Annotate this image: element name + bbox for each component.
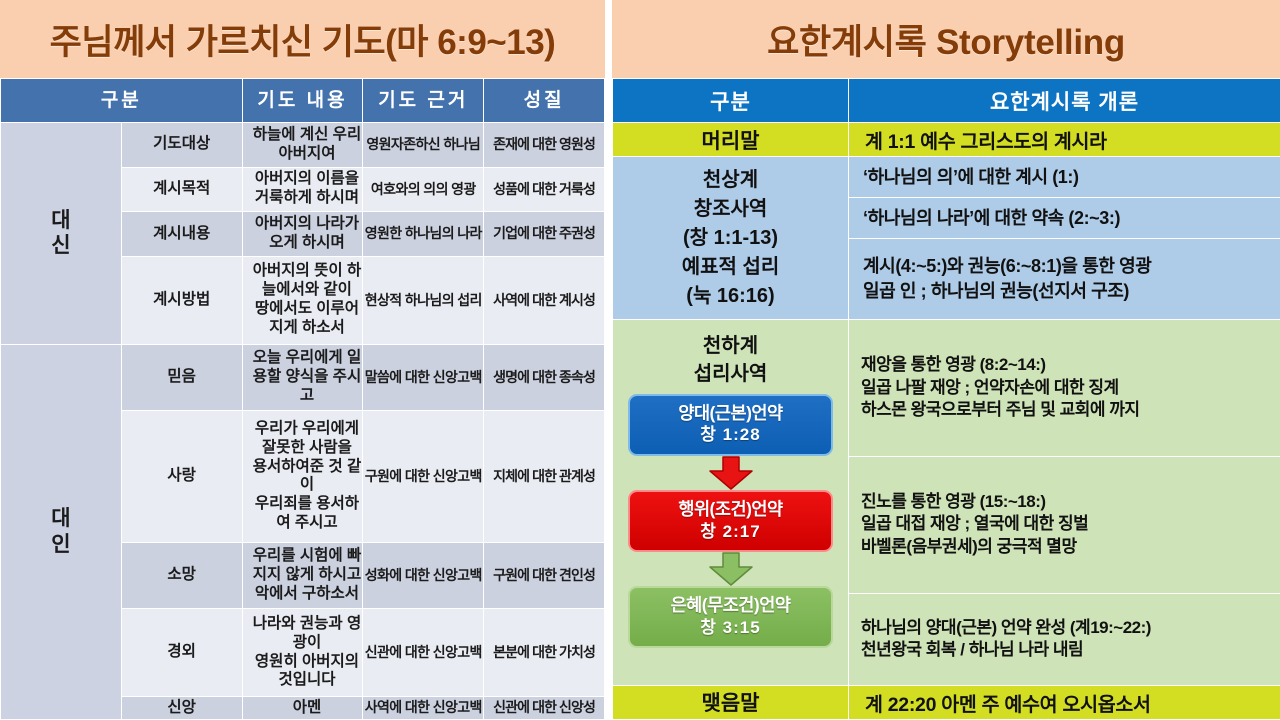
row-key: 기도대상 — [121, 123, 242, 168]
covenant-verse: 창 2:17 — [630, 521, 831, 542]
covenant-box-foundational[interactable]: 양대(근본)언약 창 1:28 — [628, 394, 833, 456]
row-nature: 기업에 대한 주권성 — [484, 212, 605, 257]
header-prayer-content: 기도 내용 — [242, 79, 363, 123]
row-key: 경외 — [121, 609, 242, 697]
row-content: 아멘 — [242, 697, 363, 720]
row-content: 나라와 권능과 영광이 영원히 아버지의 것입니다 — [242, 609, 363, 697]
header-division: 구분 — [613, 79, 849, 123]
row-nature: 생명에 대한 종속성 — [484, 344, 605, 410]
covenant-box-works[interactable]: 행위(조건)언약 창 2:17 — [628, 490, 833, 552]
left-panel-title: 주님께서 가르치신 기도(마 6:9~13) — [50, 14, 556, 65]
revelation-table: 구분 요한계시록 개론 머리말 계 1:1 예수 그리스도의 계시라 천상계 창… — [612, 78, 1280, 720]
row-basis: 구원에 대한 신앙고백 — [363, 411, 484, 543]
earth-item: 하나님의 양대(근본) 언약 완성 (계19:~22:) 천년왕국 회복 / 하… — [849, 593, 1280, 685]
earth-row-1: 천하계 섭리사역 양대(근본)언약 창 1:28 행위(조건)언약 — [613, 319, 1280, 456]
right-title-band: 요한계시록 Storytelling — [612, 0, 1280, 78]
lords-prayer-table: 구분 기도 내용 기도 근거 성질 대신 기도대상 하늘에 계신 우리 아버지여… — [0, 78, 605, 720]
row-content: 아버지의 나라가 오게 하시며 — [242, 212, 363, 257]
closing-body: 계 22:20 아멘 주 예수여 오시옵소서 — [849, 685, 1280, 719]
preface-label: 머리말 — [613, 123, 849, 157]
preface-row: 머리말 계 1:1 예수 그리스도의 계시라 — [613, 123, 1280, 157]
row-key: 계시목적 — [121, 167, 242, 212]
earth-item: 진노를 통한 영광 (15:~18:) 일곱 대접 재앙 ; 열국에 대한 징벌… — [849, 456, 1280, 593]
row-basis: 성화에 대한 신앙고백 — [363, 542, 484, 608]
group-label-daein: 대인 — [1, 344, 122, 719]
left-panel: 구분 기도 내용 기도 근거 성질 대신 기도대상 하늘에 계신 우리 아버지여… — [0, 78, 605, 720]
arrow-down-red-icon — [708, 456, 754, 490]
header-nature: 성질 — [484, 79, 605, 123]
covenant-name: 은혜(무조건)언약 — [630, 595, 831, 617]
row-nature: 성품에 대한 거룩성 — [484, 167, 605, 212]
row-content: 우리가 우리에게 잘못한 사람을 용서하여준 것 같이 우리죄를 용서하여 주시… — [242, 411, 363, 543]
row-basis: 영원자존하신 하나님 — [363, 123, 484, 168]
covenant-verse: 창 1:28 — [630, 424, 831, 445]
earth-label: 천하계 섭리사역 — [613, 332, 848, 388]
header-revelation-outline: 요한계시록 개론 — [849, 79, 1280, 123]
table-header-row: 구분 요한계시록 개론 — [613, 79, 1280, 123]
row-content: 아버지의 뜻이 하늘에서와 같이 땅에서도 이루어지게 하소서 — [242, 256, 363, 344]
row-content: 오늘 우리에게 일용할 양식을 주시고 — [242, 344, 363, 410]
table-row: 대인 믿음 오늘 우리에게 일용할 양식을 주시고 말씀에 대한 신앙고백 생명… — [1, 344, 605, 410]
heaven-item: ‘하나님의 나라’에 대한 약속 (2:~3:) — [849, 198, 1280, 239]
closing-row: 맺음말 계 22:20 아멘 주 예수여 오시옵소서 — [613, 685, 1280, 719]
row-basis: 신관에 대한 신앙고백 — [363, 609, 484, 697]
heaven-item: 계시(4:~5:)와 권능(6:~8:1)을 통한 영광 일곱 인 ; 하나님의… — [849, 239, 1280, 319]
covenant-flowchart: 양대(근본)언약 창 1:28 행위(조건)언약 창 2:17 — [613, 394, 848, 648]
covenant-name: 행위(조건)언약 — [630, 499, 831, 521]
earth-item: 재앙을 통한 영광 (8:2~14:) 일곱 나팔 재앙 ; 언약자손에 대한 … — [849, 319, 1280, 456]
row-nature: 사역에 대한 계시성 — [484, 256, 605, 344]
slide-root: 주님께서 가르치신 기도(마 6:9~13) 요한계시록 Storytellin… — [0, 0, 1280, 720]
group-char-2: 인 — [1, 532, 121, 558]
left-title-band: 주님께서 가르치신 기도(마 6:9~13) — [0, 0, 605, 78]
row-key: 소망 — [121, 542, 242, 608]
table-header-row: 구분 기도 내용 기도 근거 성질 — [1, 79, 605, 123]
closing-label: 맺음말 — [613, 685, 849, 719]
row-key: 신앙 — [121, 697, 242, 720]
right-panel-title: 요한계시록 Storytelling — [767, 14, 1125, 65]
row-nature: 존재에 대한 영원성 — [484, 123, 605, 168]
table-row: 대신 기도대상 하늘에 계신 우리 아버지여 영원자존하신 하나님 존재에 대한… — [1, 123, 605, 168]
row-content: 아버지의 이름을 거룩하게 하시며 — [242, 167, 363, 212]
row-basis: 사역에 대한 신앙고백 — [363, 697, 484, 720]
right-panel: 구분 요한계시록 개론 머리말 계 1:1 예수 그리스도의 계시라 천상계 창… — [612, 78, 1280, 720]
preface-body: 계 1:1 예수 그리스도의 계시라 — [849, 123, 1280, 157]
row-nature: 지체에 대한 관계성 — [484, 411, 605, 543]
row-nature: 본분에 대한 가치성 — [484, 609, 605, 697]
row-basis: 여호와의 의의 영광 — [363, 167, 484, 212]
row-nature: 구원에 대한 견인성 — [484, 542, 605, 608]
group-char-1: 대 — [1, 208, 121, 234]
heaven-item: ‘하나님의 의’에 대한 계시 (1:) — [849, 157, 1280, 198]
row-basis: 현상적 하나님의 섭리 — [363, 256, 484, 344]
row-key: 사랑 — [121, 411, 242, 543]
heaven-label: 천상계 창조사역 (창 1:1-13) 예표적 섭리 (눅 16:16) — [613, 157, 849, 319]
covenant-name: 양대(근본)언약 — [630, 403, 831, 425]
row-basis: 영원한 하나님의 나라 — [363, 212, 484, 257]
arrow-down-green-icon — [708, 552, 754, 586]
group-label-daesin: 대신 — [1, 123, 122, 345]
group-char-1: 대 — [1, 506, 121, 532]
header-prayer-basis: 기도 근거 — [363, 79, 484, 123]
row-nature: 신관에 대한 신앙성 — [484, 697, 605, 720]
row-key: 계시방법 — [121, 256, 242, 344]
earth-label-cell: 천하계 섭리사역 양대(근본)언약 창 1:28 행위(조건)언약 — [613, 319, 849, 685]
covenant-box-grace[interactable]: 은혜(무조건)언약 창 3:15 — [628, 586, 833, 648]
row-basis: 말씀에 대한 신앙고백 — [363, 344, 484, 410]
covenant-verse: 창 3:15 — [630, 617, 831, 638]
heaven-row-1: 천상계 창조사역 (창 1:1-13) 예표적 섭리 (눅 16:16) ‘하나… — [613, 157, 1280, 198]
row-content: 하늘에 계신 우리 아버지여 — [242, 123, 363, 168]
row-key: 믿음 — [121, 344, 242, 410]
group-char-2: 신 — [1, 233, 121, 259]
row-content: 우리를 시험에 빠지지 않게 하시고 악에서 구하소서 — [242, 542, 363, 608]
row-key: 계시내용 — [121, 212, 242, 257]
header-division: 구분 — [1, 79, 243, 123]
